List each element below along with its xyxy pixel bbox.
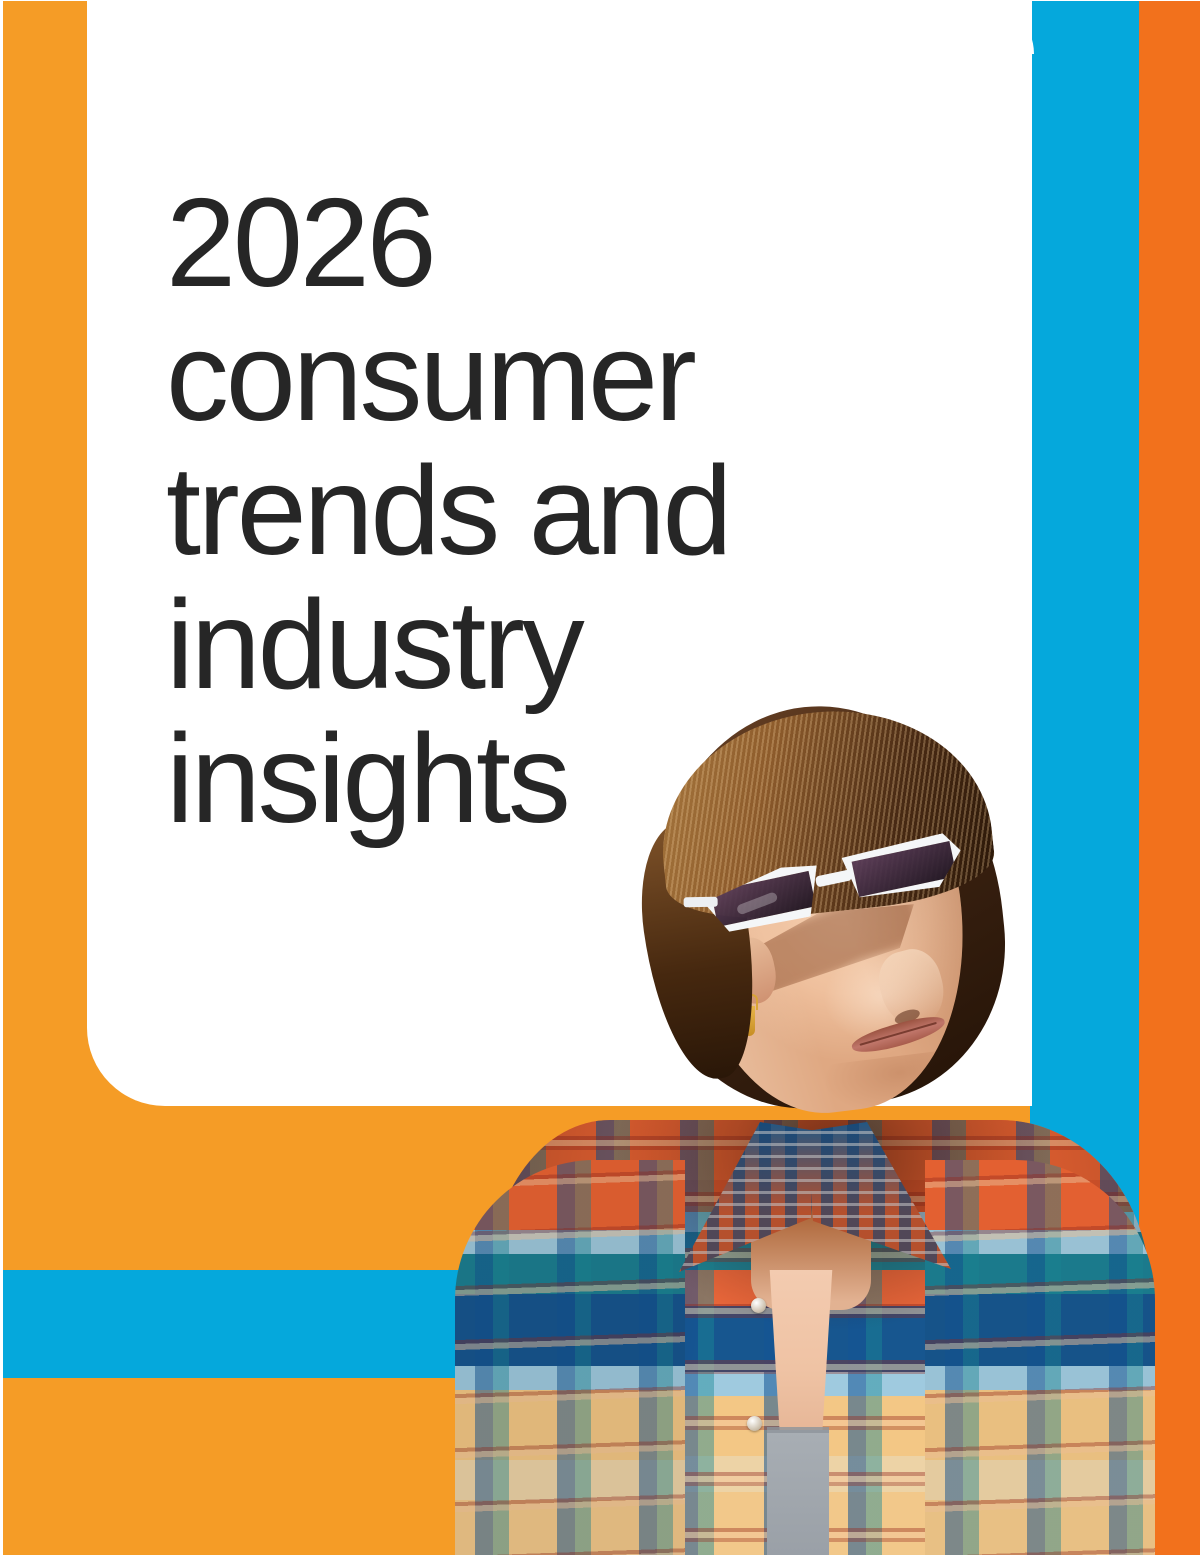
title-line-1: 2026 (166, 176, 926, 310)
shirt-button-top (751, 1298, 766, 1313)
right-shoulder (925, 1160, 1155, 1555)
title-line-2: consumer (166, 310, 926, 444)
inner-gray-shirt (767, 1430, 829, 1555)
left-shoulder (455, 1160, 685, 1555)
sunglasses-bridge (815, 869, 853, 887)
shirt-button-bottom (747, 1416, 762, 1431)
head (625, 690, 1025, 1190)
report-cover-page: 2026 consumer trends and industry insigh… (0, 0, 1200, 1555)
sunglasses-temple (684, 897, 718, 908)
title-line-3: trends and (166, 444, 926, 578)
portrait-photo (455, 690, 1155, 1555)
